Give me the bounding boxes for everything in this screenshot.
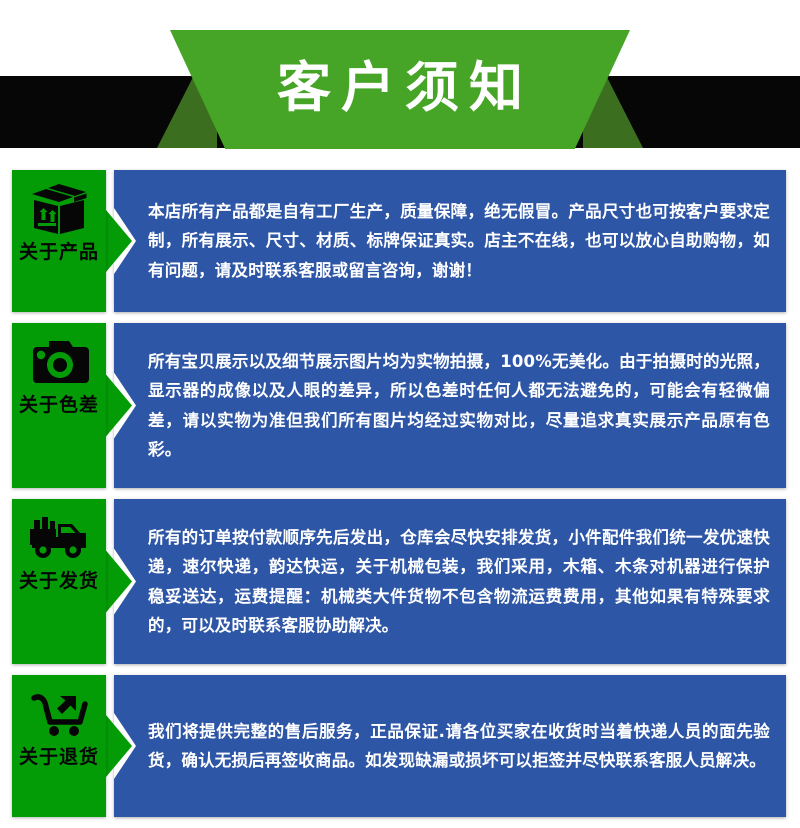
badge-about-product[interactable]: 关于产品 bbox=[12, 170, 106, 312]
notice-panel: 所有的订单按付款顺序先后发出，仓库会尽快安排发货，小件配件我们统一发优速快递，速… bbox=[114, 499, 786, 664]
notice-panel: 所有宝贝展示以及细节展示图片均为实物拍摄，100%无美化。由于拍摄时的光照，显示… bbox=[114, 323, 786, 488]
badge-label: 关于产品 bbox=[19, 242, 99, 263]
page-title: 客户须知 bbox=[267, 61, 533, 119]
list-item: 关于色差 所有宝贝展示以及细节展示图片均为实物拍摄，100%无美化。由于拍摄时的… bbox=[0, 323, 800, 488]
list-item: 关于产品 本店所有产品都是自有工厂生产，质量保障，绝无假冒。产品尺寸也可按客户要… bbox=[0, 170, 800, 312]
notice-panel: 本店所有产品都是自有工厂生产，质量保障，绝无假冒。产品尺寸也可按客户要求定制，所… bbox=[114, 170, 786, 312]
list-item: 关于退货 我们将提供完整的售后服务，正品保证.请各位买家在收货时当着快递人员的面… bbox=[0, 675, 800, 817]
badge-about-return[interactable]: 关于退货 bbox=[12, 675, 106, 817]
return-cart-icon bbox=[28, 687, 90, 741]
notice-text: 所有的订单按付款顺序先后发出，仓库会尽快安排发货，小件配件我们统一发优速快递，速… bbox=[114, 509, 786, 654]
notice-text: 本店所有产品都是自有工厂生产，质量保障，绝无假冒。产品尺寸也可按客户要求定制，所… bbox=[114, 183, 786, 299]
notice-list: 关于产品 本店所有产品都是自有工厂生产，质量保障，绝无假冒。产品尺寸也可按客户要… bbox=[0, 170, 800, 828]
badge-about-shipping[interactable]: 关于发货 bbox=[12, 499, 106, 664]
badge-about-color[interactable]: 关于色差 bbox=[12, 323, 106, 488]
badge-label: 关于发货 bbox=[19, 571, 99, 592]
notice-text: 所有宝贝展示以及细节展示图片均为实物拍摄，100%无美化。由于拍摄时的光照，显示… bbox=[114, 333, 786, 478]
banner-plate: 客户须知 bbox=[170, 30, 630, 149]
header-banner: 客户须知 bbox=[0, 0, 800, 170]
list-item: 关于发货 所有的订单按付款顺序先后发出，仓库会尽快安排发货，小件配件我们统一发优… bbox=[0, 499, 800, 664]
badge-label: 关于退货 bbox=[19, 747, 99, 768]
cardboard-box-icon bbox=[28, 182, 90, 236]
camera-icon bbox=[28, 335, 90, 389]
badge-label: 关于色差 bbox=[19, 395, 99, 416]
notice-text: 我们将提供完整的售后服务，正品保证.请各位买家在收货时当着快递人员的面先验货，确… bbox=[114, 703, 786, 790]
delivery-truck-icon bbox=[28, 511, 90, 565]
notice-panel: 我们将提供完整的售后服务，正品保证.请各位买家在收货时当着快递人员的面先验货，确… bbox=[114, 675, 786, 817]
